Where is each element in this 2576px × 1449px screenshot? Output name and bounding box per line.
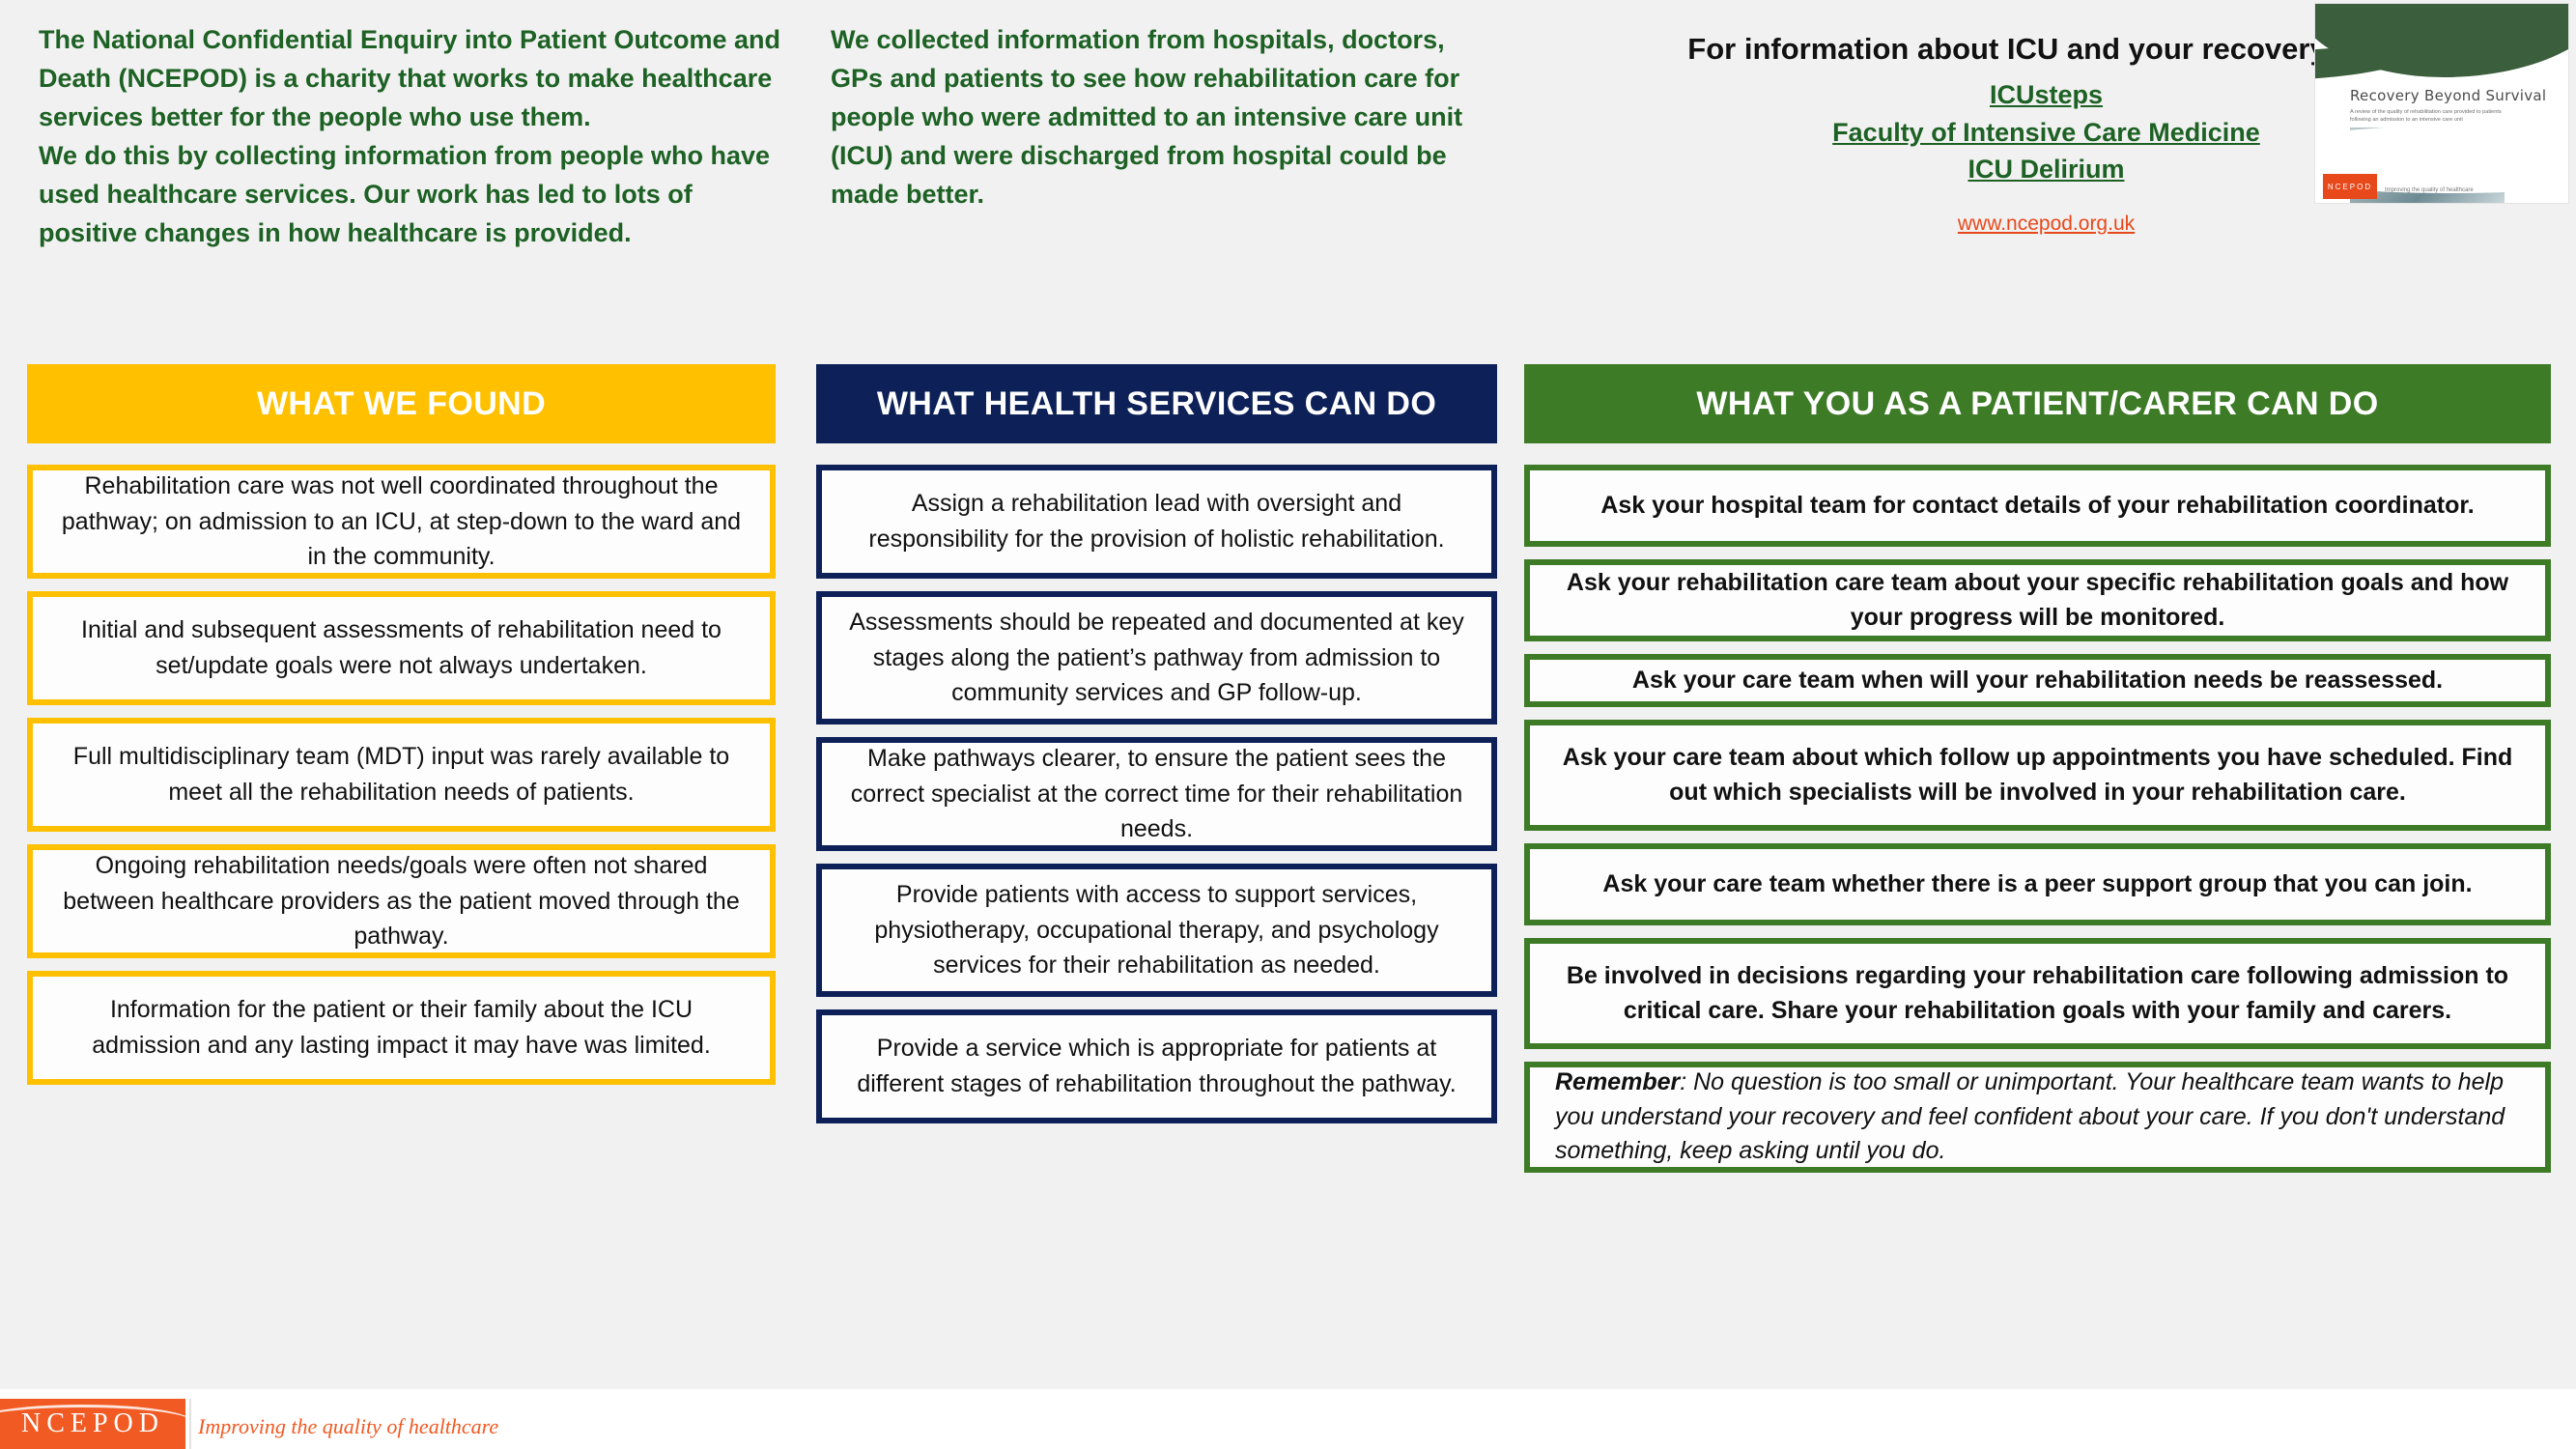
finding-text: Information for the patient or their fam… (54, 992, 749, 1064)
about-paragraph-2: We do this by collecting information fro… (39, 137, 786, 253)
visit-heading: For information about ICU and your recov… (1665, 29, 2428, 69)
infographic-page: The National Confidential Enquiry into P… (0, 0, 2576, 1449)
patient-action-card: Ask your rehabilitation care team about … (1524, 559, 2551, 641)
column-what-we-found: Rehabilitation care was not well coordin… (27, 465, 776, 1097)
intro-column-resources: For information about ICU and your recov… (1516, 0, 2576, 355)
finding-text: Full multidisciplinary team (MDT) input … (54, 739, 749, 810)
patient-action-text: Ask your rehabilitation care team about … (1551, 566, 2524, 636)
link-ncepod-website[interactable]: www.ncepod.org.uk (1516, 213, 2576, 236)
header-what-health-services-can-do: WHAT HEALTH SERVICES CAN DO (816, 364, 1497, 443)
service-action-card: Provide patients with access to support … (816, 864, 1497, 997)
service-action-card: Assessments should be repeated and docum… (816, 591, 1497, 724)
patient-action-text: Ask your care team about which follow up… (1551, 741, 2524, 810)
column-what-health-services-can-do: Assign a rehabilitation lead with oversi… (816, 465, 1497, 1136)
cover-logo-tagline: Improving the quality of healthcare (2385, 187, 2474, 193)
method-paragraph-1: We collected information from hospitals,… (831, 21, 1491, 214)
report-cover-thumbnail: Recovery Beyond Survival A review of the… (2315, 4, 2568, 203)
finding-card: Initial and subsequent assessments of re… (27, 591, 776, 705)
finding-card: Ongoing rehabilitation needs/goals were … (27, 844, 776, 958)
service-action-card: Provide a service which is appropriate f… (816, 1009, 1497, 1123)
patient-action-text: Ask your care team when will your rehabi… (1551, 664, 2524, 698)
header-what-we-found: WHAT WE FOUND (27, 364, 776, 443)
patient-action-card: Be involved in decisions regarding your … (1524, 938, 2551, 1049)
header-what-you-as-a-patient-carer-can-do: WHAT YOU AS A PATIENT/CARER CAN DO (1524, 364, 2551, 443)
finding-card: Full multidisciplinary team (MDT) input … (27, 718, 776, 832)
patient-action-card: Ask your care team when will your rehabi… (1524, 654, 2551, 707)
remember-body: : No question is too small or unimportan… (1555, 1068, 2505, 1165)
intro-row: The National Confidential Enquiry into P… (0, 0, 2576, 355)
cover-subtitle: A review of the quality of rehabilitatio… (2350, 108, 2514, 125)
patient-action-card: Ask your care team about which follow up… (1524, 720, 2551, 831)
patient-action-text: Ask your hospital team for contact detai… (1551, 489, 2524, 524)
intro-column-method: We collected information from hospitals,… (811, 0, 1516, 355)
service-action-text: Assessments should be repeated and docum… (843, 605, 1470, 711)
finding-card: Rehabilitation care was not well coordin… (27, 465, 776, 579)
about-ncepod-text: The National Confidential Enquiry into P… (39, 21, 786, 253)
remember-note-card: Remember: No question is too small or un… (1524, 1062, 2551, 1173)
service-action-card: Make pathways clearer, to ensure the pat… (816, 737, 1497, 851)
ncepod-logo: NCEPOD (0, 1399, 185, 1449)
patient-action-text: Be involved in decisions regarding your … (1551, 959, 2524, 1029)
remember-note-text: Remember: No question is too small or un… (1555, 1065, 2520, 1169)
finding-text: Ongoing rehabilitation needs/goals were … (54, 848, 749, 954)
service-action-text: Provide a service which is appropriate f… (843, 1031, 1470, 1102)
service-action-text: Provide patients with access to support … (843, 877, 1470, 983)
finding-card: Information for the patient or their fam… (27, 971, 776, 1085)
column-what-you-as-a-patient-carer-can-do: Ask your hospital team for contact detai… (1524, 465, 2551, 1185)
remember-label: Remember (1555, 1068, 1680, 1095)
service-action-text: Assign a rehabilitation lead with oversi… (843, 486, 1470, 557)
footer: NCEPOD Improving the quality of healthca… (0, 1389, 2576, 1449)
footer-divider (189, 1399, 191, 1449)
patient-action-card: Ask your care team whether there is a pe… (1524, 843, 2551, 925)
footer-tagline: Improving the quality of healthcare (198, 1414, 498, 1439)
cover-ncepod-logo: NCEPOD (2323, 174, 2377, 199)
service-action-text: Make pathways clearer, to ensure the pat… (843, 741, 1470, 847)
finding-text: Rehabilitation care was not well coordin… (54, 469, 749, 575)
column-headers: WHAT WE FOUND WHAT HEALTH SERVICES CAN D… (0, 364, 2576, 453)
about-paragraph-1: The National Confidential Enquiry into P… (39, 21, 786, 137)
intro-column-about: The National Confidential Enquiry into P… (0, 0, 811, 355)
cover-title: Recovery Beyond Survival (2350, 87, 2546, 104)
service-action-card: Assign a rehabilitation lead with oversi… (816, 465, 1497, 579)
patient-action-card: Ask your hospital team for contact detai… (1524, 465, 2551, 547)
method-text: We collected information from hospitals,… (831, 21, 1491, 214)
patient-action-text: Ask your care team whether there is a pe… (1551, 867, 2524, 902)
finding-text: Initial and subsequent assessments of re… (54, 612, 749, 684)
